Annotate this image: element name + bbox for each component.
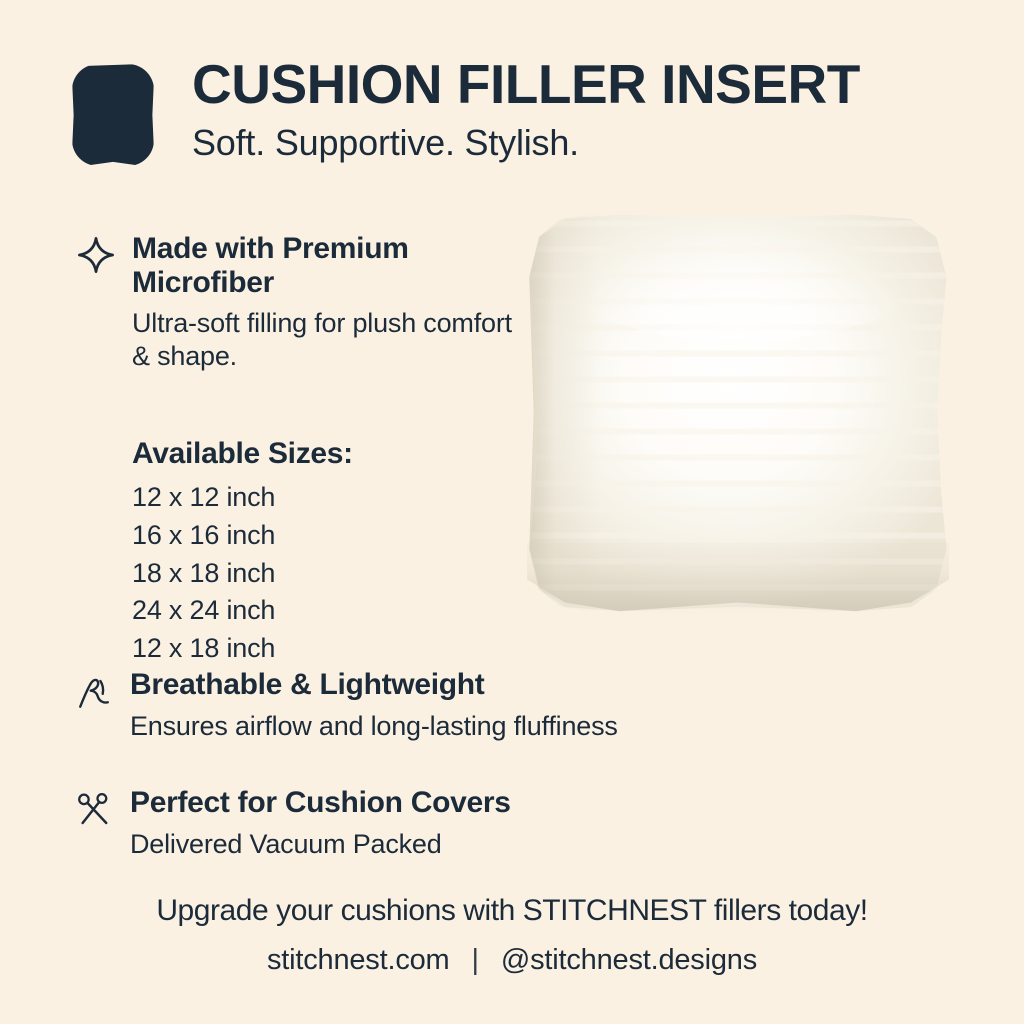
feature-covers-text: Perfect for Cushion Covers Delivered Vac… [130,786,511,860]
feature-description: Delivered Vacuum Packed [130,828,511,860]
feather-icon [70,668,118,716]
social-handle-link[interactable]: @stitchnest.designs [501,944,757,977]
list-item: 16 x 16 inch [132,517,512,555]
list-item: 18 x 18 inch [132,555,512,593]
page-title: CUSHION FILLER INSERT [192,56,860,114]
feature-title: Made with Premium Microfiber [132,232,512,299]
sparkle-icon [72,232,120,280]
feature-title: Breathable & Lightweight [130,668,618,702]
feature-perfect-for-covers: Perfect for Cushion Covers Delivered Vac… [70,786,690,860]
feature-description: Ultra-soft filling for plush comfort & s… [132,307,512,372]
feature-premium-text: Made with Premium Microfiber Ultra-soft … [132,232,512,372]
footer: Upgrade your cushions with STITCHNEST fi… [0,893,1024,977]
feature-breathable-lightweight: Breathable & Lightweight Ensures airflow… [70,668,790,742]
cushion-filler-insert-photo [505,195,970,640]
feature-breathable-text: Breathable & Lightweight Ensures airflow… [130,668,618,742]
footer-links-row: stitchnest.com | @stitchnest.designs [0,944,1024,977]
website-link[interactable]: stitchnest.com [267,944,450,977]
feature-description: Ensures airflow and long-lasting fluffin… [130,710,618,742]
cushion-square-icon [72,64,154,166]
feature-title: Perfect for Cushion Covers [130,786,511,820]
available-sizes-heading: Available Sizes: [132,437,512,470]
feature-premium-microfiber: Made with Premium Microfiber Ultra-soft … [72,232,512,372]
header-text-group: CUSHION FILLER INSERT Soft. Supportive. … [192,56,860,165]
pillow-top-highlight [565,221,915,341]
header: CUSHION FILLER INSERT Soft. Supportive. … [72,56,952,176]
list-item: 12 x 12 inch [132,479,512,517]
list-item: 12 x 18 inch [132,630,512,668]
scissors-icon [70,786,118,834]
available-sizes-block: Available Sizes: 12 x 12 inch 16 x 16 in… [132,437,512,668]
footer-divider: | [472,944,479,977]
cta-text: Upgrade your cushions with STITCHNEST fi… [0,893,1024,929]
list-item: 24 x 24 inch [132,592,512,630]
available-sizes-list: 12 x 12 inch 16 x 16 inch 18 x 18 inch 2… [132,479,512,668]
page-subtitle: Soft. Supportive. Stylish. [192,120,860,165]
